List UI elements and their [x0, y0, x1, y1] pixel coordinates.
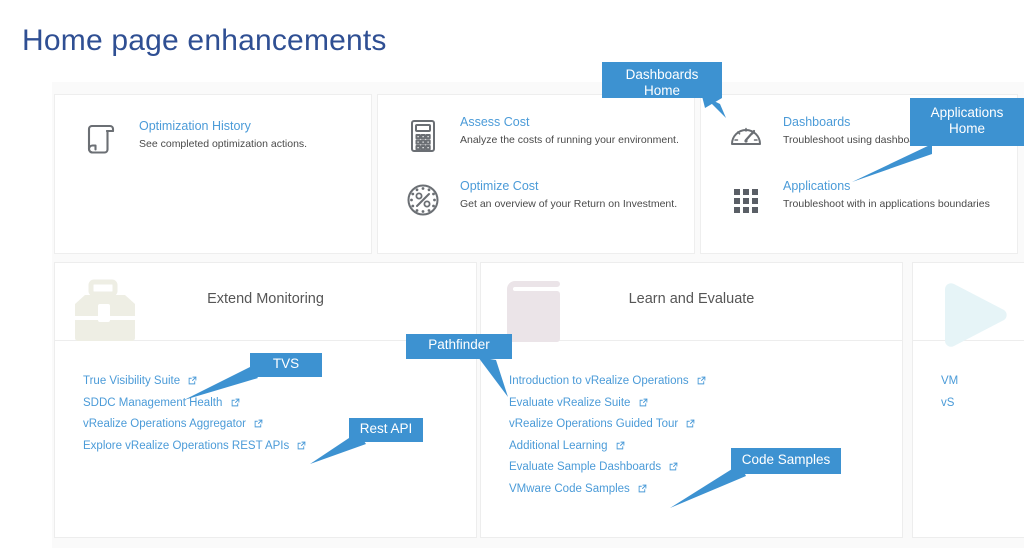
list-item[interactable]: Additional Learning [509, 436, 902, 458]
page-root: Home page enhancements Optimiz [0, 0, 1024, 548]
callout-line-1: Rest API [358, 421, 414, 437]
link-label[interactable]: vS [941, 397, 954, 409]
link-label[interactable]: True Visibility Suite [83, 375, 180, 387]
optimization-card: Optimization History See completed optim… [54, 94, 372, 254]
link-label[interactable]: VM [941, 375, 958, 387]
pathfinder-callout: Pathfinder [406, 334, 512, 359]
feature-text: Optimization History See completed optim… [139, 117, 307, 151]
play-triangle-icon [931, 271, 1007, 349]
external-link-icon [254, 415, 263, 424]
external-link-icon [697, 372, 706, 381]
card-header: Learn and Evaluate [481, 263, 902, 341]
link-label[interactable]: vRealize Operations Guided Tour [509, 418, 678, 430]
list-item[interactable]: Evaluate vRealize Suite [509, 393, 902, 415]
list-item[interactable]: Introduction to vRealize Operations [509, 371, 902, 393]
external-link-icon [616, 437, 625, 446]
card-title: Extend Monitoring [55, 291, 476, 307]
feature-text: Optimize Cost Get an overview of your Re… [460, 177, 677, 211]
callout-line-1: Applications [919, 105, 1015, 121]
feature-title[interactable]: Dashboards [783, 115, 930, 130]
page-title: Home page enhancements [22, 24, 387, 58]
pathfinder-callout-tail [460, 352, 560, 412]
external-link-icon [639, 394, 648, 403]
code-samples-callout: Code Samples [731, 448, 841, 474]
dashboards-home-callout: Dashboards Home [602, 62, 722, 98]
external-link-icon [638, 480, 647, 489]
list-item[interactable]: vRealize Operations Guided Tour [509, 414, 902, 436]
feature-desc: Troubleshoot with in applications bounda… [783, 198, 990, 211]
link-label[interactable]: vRealize Operations Aggregator [83, 418, 246, 430]
toolbox-icon [73, 271, 149, 349]
percent-circle-icon [400, 177, 446, 223]
card-header [913, 263, 1024, 341]
video-card-truncated: VM vS [912, 262, 1024, 538]
scroll-document-icon [79, 117, 125, 163]
link-label[interactable]: VMware Code Samples [509, 483, 630, 495]
card-header: Extend Monitoring [55, 263, 476, 341]
callout-line-1: Dashboards [611, 67, 713, 83]
callout-line-2: Home [611, 83, 713, 99]
feature-desc: See completed optimization actions. [139, 138, 307, 151]
link-label[interactable]: Additional Learning [509, 440, 607, 452]
list-item[interactable]: vS [941, 393, 1024, 415]
link-list: VM vS [913, 341, 1024, 414]
grid-squares-icon [723, 177, 769, 223]
feature-desc: Get an overview of your Return on Invest… [460, 198, 677, 211]
feature-optimization-history[interactable]: Optimization History See completed optim… [79, 117, 307, 163]
feature-optimize-cost[interactable]: Optimize Cost Get an overview of your Re… [400, 177, 677, 223]
feature-title[interactable]: Optimization History [139, 119, 307, 134]
link-label[interactable]: Explore vRealize Operations REST APIs [83, 440, 289, 452]
link-label[interactable]: Evaluate Sample Dashboards [509, 461, 661, 473]
feature-desc: Analyze the costs of running your enviro… [460, 134, 679, 147]
applications-home-callout: Applications Home [910, 98, 1024, 146]
feature-title[interactable]: Optimize Cost [460, 179, 677, 194]
calculator-icon [400, 113, 446, 159]
callout-line-1: Code Samples [740, 452, 832, 468]
card-title: Learn and Evaluate [481, 291, 902, 307]
tvs-callout: TVS [250, 353, 322, 377]
callout-line-1: TVS [259, 356, 313, 372]
rest-api-callout: Rest API [349, 418, 423, 442]
callout-line-2: Home [919, 121, 1015, 137]
external-link-icon [686, 415, 695, 424]
list-item[interactable]: VM [941, 371, 1024, 393]
callout-line-1: Pathfinder [415, 337, 503, 353]
